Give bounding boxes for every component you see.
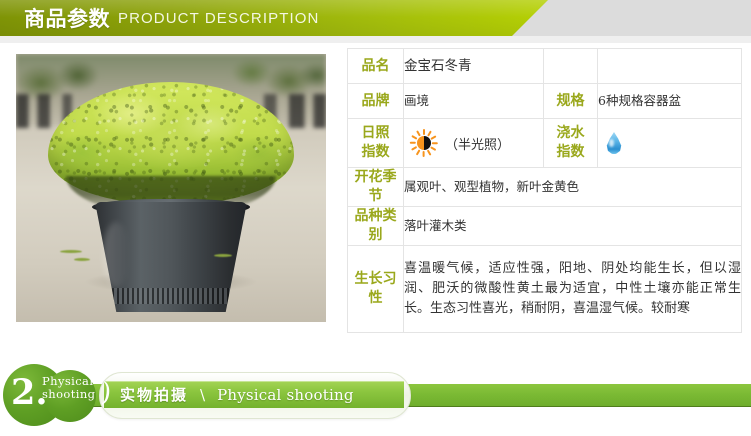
spec-label-spec: 规格: [544, 84, 598, 119]
sunlight-note: （半光照）: [445, 134, 510, 153]
pot-highlight: [103, 222, 129, 288]
spec-label-brand: 品牌: [348, 84, 404, 119]
spec-label-bloom-season: 开花季节: [348, 168, 404, 207]
table-row: 日照 指数: [348, 119, 742, 168]
table-row: 品名 金宝石冬青: [348, 49, 742, 84]
banner-separator: \: [200, 386, 205, 404]
banner-title-cn: 实物拍摄: [120, 384, 188, 405]
weed-sprig: [74, 258, 90, 261]
spec-value-bloom-season: 属观叶、观型植物，新叶金黄色: [404, 168, 742, 207]
spec-value-spec: 6种规格容器盆: [598, 84, 742, 119]
banner-pill-label-strip: 实物拍摄 \ Physical shooting: [104, 381, 404, 408]
table-row: 开花季节 属观叶、观型植物，新叶金黄色: [348, 168, 742, 207]
banner-title-en: Physical shooting: [217, 386, 354, 404]
spec-label-sunlight: 日照 指数: [348, 119, 404, 168]
spec-value-sunlight: （半光照）: [404, 119, 544, 168]
water-drop-icon: [604, 130, 624, 156]
spec-label-sunlight-line1: 日照: [348, 124, 403, 143]
page-header-banner: 商品参数 PRODUCT DESCRIPTION: [0, 0, 751, 36]
spec-label-watering-line1: 浇水: [544, 124, 597, 143]
table-row: 品牌 画境 规格 6种规格容器盆: [348, 84, 742, 119]
photo-background: [16, 54, 326, 322]
spec-label-variety-type: 品种类别: [348, 207, 404, 246]
banner-blob-label-line1: Physical: [42, 375, 95, 388]
spec-label-empty: [544, 49, 598, 84]
weed-sprig: [214, 254, 232, 257]
section-banner-physical-shooting: 实物拍摄 \ Physical shooting 2. Physical sho…: [0, 368, 751, 420]
spec-label-name: 品名: [348, 49, 404, 84]
product-spec-table: 品名 金宝石冬青 品牌 画境 规格 6种规格容器盆 日照 指数: [347, 48, 742, 333]
page-title-cn: 商品参数: [24, 3, 110, 33]
table-row: 品种类别 落叶灌木类: [348, 207, 742, 246]
water-drop-highlight: [609, 139, 614, 147]
spec-value-name: 金宝石冬青: [404, 49, 544, 84]
header-underline: [0, 36, 751, 43]
weed-sprig: [60, 250, 82, 253]
sun-core: [417, 136, 431, 150]
table-row: 生长习性 喜温暖气候，适应性强，阳地、阴处均能生长，但以湿润、肥沃的微酸性黄土最…: [348, 246, 742, 333]
half-sun-icon: [410, 129, 438, 157]
spec-label-growth-habit: 生长习性: [348, 246, 404, 333]
spec-label-sunlight-line2: 指数: [348, 143, 403, 162]
spec-value-watering: [598, 119, 742, 168]
spec-value-growth-habit: 喜温暖气候，适应性强，阳地、阴处均能生长，但以湿润、肥沃的微酸性黄土最为适宜，中…: [404, 246, 742, 333]
banner-blob-label: Physical shooting: [42, 375, 95, 401]
spec-label-watering-line2: 指数: [544, 143, 597, 162]
banner-blob-label-line2: shooting: [42, 388, 95, 401]
pot-drainage-ridges: [107, 288, 235, 304]
page-title-en: PRODUCT DESCRIPTION: [118, 10, 319, 27]
spec-value-empty: [598, 49, 742, 84]
spec-value-variety-type: 落叶灌木类: [404, 207, 742, 246]
spec-value-brand: 画境: [404, 84, 544, 119]
header-title-group: 商品参数 PRODUCT DESCRIPTION: [24, 0, 319, 36]
product-photo: [16, 54, 326, 322]
spec-label-watering: 浇水 指数: [544, 119, 598, 168]
